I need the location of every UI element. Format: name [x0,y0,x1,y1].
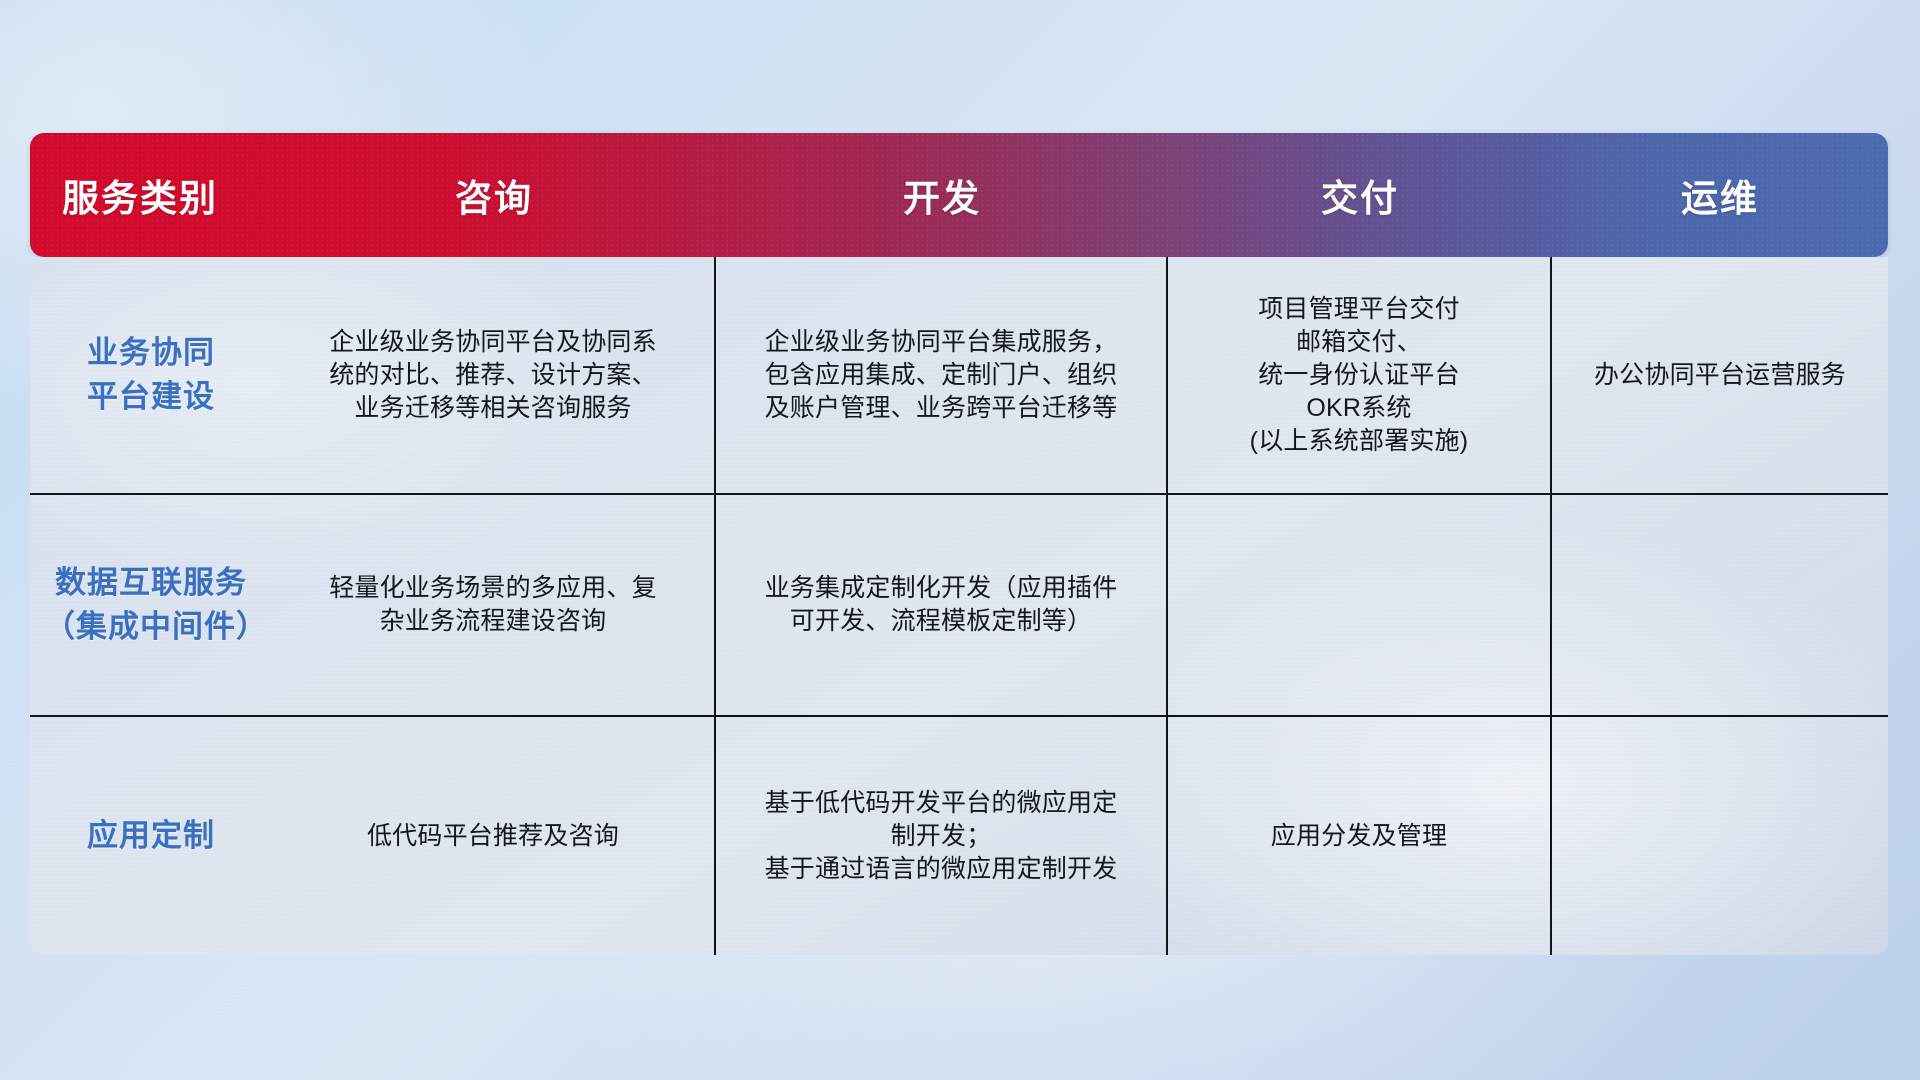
cell-development: 业务集成定制化开发（应用插件 可开发、流程模板定制等） [716,495,1168,715]
cell-consulting: 企业级业务协同平台及协同系 统的对比、推荐、设计方案、 业务迁移等相关咨询服务 [272,257,716,493]
table-header-row: 服务类别 咨询 开发 交付 运维 [30,133,1888,257]
table-row: 数据互联服务 （集成中间件） 轻量化业务场景的多应用、复 杂业务流程建设咨询 业… [30,493,1888,715]
cell-delivery [1168,495,1552,715]
cell-consulting: 轻量化业务场景的多应用、复 杂业务流程建设咨询 [272,495,716,715]
table-body: 业务协同 平台建设 企业级业务协同平台及协同系 统的对比、推荐、设计方案、 业务… [30,257,1888,955]
table-row: 业务协同 平台建设 企业级业务协同平台及协同系 统的对比、推荐、设计方案、 业务… [30,257,1888,493]
cell-delivery: 应用分发及管理 [1168,717,1552,955]
slide-canvas: 服务类别 咨询 开发 交付 运维 业务协同 平台建设 企业级业务协同平台及协同系… [0,0,1920,1080]
cell-category: 业务协同 平台建设 [30,257,272,493]
cell-category: 数据互联服务 （集成中间件） [30,495,272,715]
column-header-operations: 运维 [1552,168,1888,222]
column-header-delivery: 交付 [1168,168,1552,222]
cell-delivery: 项目管理平台交付 邮箱交付、 统一身份认证平台 OKR系统 (以上系统部署实施) [1168,257,1552,493]
cell-operations [1552,717,1888,955]
cell-development: 基于低代码开发平台的微应用定 制开发； 基于通过语言的微应用定制开发 [716,717,1168,955]
cell-operations [1552,495,1888,715]
column-header-category: 服务类别 [30,168,272,222]
service-category-table: 服务类别 咨询 开发 交付 运维 业务协同 平台建设 企业级业务协同平台及协同系… [30,133,1888,955]
table-row: 应用定制 低代码平台推荐及咨询 基于低代码开发平台的微应用定 制开发； 基于通过… [30,715,1888,955]
cell-category: 应用定制 [30,717,272,955]
column-header-consulting: 咨询 [272,168,716,222]
cell-consulting: 低代码平台推荐及咨询 [272,717,716,955]
column-header-development: 开发 [716,168,1168,222]
cell-operations: 办公协同平台运营服务 [1552,257,1888,493]
cell-development: 企业级业务协同平台集成服务， 包含应用集成、定制门户、组织 及账户管理、业务跨平… [716,257,1168,493]
